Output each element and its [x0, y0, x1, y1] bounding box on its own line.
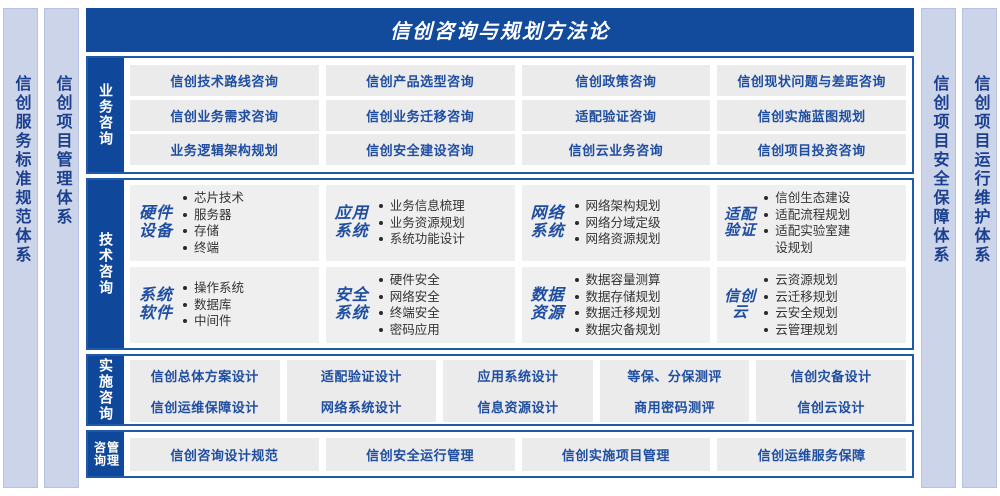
pill-item[interactable]: 信息资源设计 — [443, 391, 593, 422]
band-label-text: 业务咨询 — [99, 83, 113, 147]
card-row: 系统 软件 操作系统 数据库 中间件 安全 系统 硬件安全 网络安全 终端安全 — [130, 267, 906, 343]
band-label-text-right: 管理 — [107, 441, 119, 467]
pillar-label: 信创项目管理体系 — [54, 75, 70, 227]
card-list-item: 数据灾备规划 — [574, 322, 661, 339]
card-security-system[interactable]: 安全 系统 硬件安全 网络安全 终端安全 密码应用 — [326, 267, 515, 343]
card-list-item: 中间件 — [182, 313, 244, 330]
band-label-text: 实施咨询 — [99, 358, 113, 422]
card-list-item: 终端安全 — [378, 305, 440, 322]
pillar-project-operations: 信创项目运行维护体系 — [962, 8, 997, 488]
card-list-item: 终端 — [182, 240, 244, 257]
card-list: 芯片技术 服务器 存储 终端 — [182, 190, 244, 256]
pill-item[interactable]: 信创现状问题与差距咨询 — [717, 65, 906, 96]
pill-item[interactable]: 信创咨询设计规范 — [130, 438, 319, 471]
band-business-consulting: 业务咨询 信创技术路线咨询 信创产品选型咨询 信创政策咨询 信创现状问题与差距咨… — [86, 56, 914, 174]
card-network-system[interactable]: 网络 系统 网络架构规划 网络分域定级 网络资源规划 — [522, 185, 711, 261]
pill-item[interactable]: 网络系统设计 — [287, 391, 437, 422]
pill-row: 信创技术路线咨询 信创产品选型咨询 信创政策咨询 信创现状问题与差距咨询 — [130, 65, 906, 96]
band-label-implementation: 实施咨询 — [88, 356, 124, 424]
pill-item[interactable]: 信创运维保障设计 — [130, 391, 280, 422]
card-list-item: 云安全规划 — [763, 305, 838, 322]
band-technical-consulting: 技术咨询 硬件 设备 芯片技术 服务器 存储 终端 应用 系统 — [86, 178, 914, 350]
card-list-item: 硬件安全 — [378, 272, 440, 289]
card-list-item: 密码应用 — [378, 322, 440, 339]
band-label-text-left: 咨询 — [94, 441, 106, 467]
pill-item[interactable]: 适配验证设计 — [287, 360, 437, 391]
band-body-implementation: 信创总体方案设计 适配验证设计 应用系统设计 等保、分保测评 信创灾备设计 信创… — [124, 356, 912, 424]
card-xinchuang-cloud[interactable]: 信创 云 云资源规划 云迁移规划 云安全规划 云管理规划 — [717, 267, 906, 343]
card-title: 硬件 设备 — [136, 205, 176, 240]
pill-item[interactable]: 信创政策咨询 — [522, 65, 711, 96]
card-list-item: 系统功能设计 — [378, 231, 465, 248]
pill-item[interactable]: 信创云设计 — [756, 391, 906, 422]
card-list-item-continued: 设规划 — [763, 240, 850, 257]
pillar-label: 信创项目安全保障体系 — [931, 75, 947, 265]
pill-row: 信创运维保障设计 网络系统设计 信息资源设计 商用密码测评 信创云设计 — [130, 391, 906, 422]
card-list: 网络架构规划 网络分域定级 网络资源规划 — [574, 198, 661, 248]
center-column: 信创咨询与规划方法论 业务咨询 信创技术路线咨询 信创产品选型咨询 信创政策咨询… — [86, 8, 914, 488]
card-list-item: 数据容量测算 — [574, 272, 661, 289]
pill-item[interactable]: 信创实施项目管理 — [522, 438, 711, 471]
band-body-technical: 硬件 设备 芯片技术 服务器 存储 终端 应用 系统 业务信息梳理 业务资源规划 — [124, 180, 912, 348]
pill-item[interactable]: 信创安全运行管理 — [326, 438, 515, 471]
band-label-technical: 技术咨询 — [88, 180, 124, 348]
card-list-item: 网络架构规划 — [574, 198, 661, 215]
card-hardware-device[interactable]: 硬件 设备 芯片技术 服务器 存储 终端 — [130, 185, 319, 261]
card-list-item: 芯片技术 — [182, 190, 244, 207]
card-list: 数据容量测算 数据存储规划 数据迁移规划 数据灾备规划 — [574, 272, 661, 338]
band-label-management: 咨询 管理 — [88, 432, 124, 476]
card-list-item: 操作系统 — [182, 280, 244, 297]
card-list-item: 存储 — [182, 223, 244, 240]
card-title: 网络 系统 — [528, 205, 568, 240]
card-list-item: 云管理规划 — [763, 322, 838, 339]
pill-item[interactable]: 信创运维服务保障 — [717, 438, 906, 471]
pill-item[interactable]: 等保、分保测评 — [600, 360, 750, 391]
pill-item[interactable]: 业务逻辑架构规划 — [130, 134, 319, 165]
card-list: 云资源规划 云迁移规划 云安全规划 云管理规划 — [763, 272, 838, 338]
card-list-item: 网络资源规划 — [574, 231, 661, 248]
pill-item[interactable]: 信创技术路线咨询 — [130, 65, 319, 96]
card-adaptation-verification[interactable]: 适配 验证 信创生态建设 适配流程规划 适配实验室建 设规划 — [717, 185, 906, 261]
card-list: 信创生态建设 适配流程规划 适配实验室建 设规划 — [763, 190, 850, 256]
band-consulting-management: 咨询 管理 信创咨询设计规范 信创安全运行管理 信创实施项目管理 信创运维服务保… — [86, 430, 914, 478]
band-label-business: 业务咨询 — [88, 58, 124, 172]
pill-row: 信创总体方案设计 适配验证设计 应用系统设计 等保、分保测评 信创灾备设计 — [130, 360, 906, 391]
card-list: 硬件安全 网络安全 终端安全 密码应用 — [378, 272, 440, 338]
card-list: 操作系统 数据库 中间件 — [182, 280, 244, 330]
card-list-item: 云资源规划 — [763, 272, 838, 289]
card-list: 业务信息梳理 业务资源规划 系统功能设计 — [378, 198, 465, 248]
pill-item[interactable]: 信创业务需求咨询 — [130, 100, 319, 131]
band-body-management: 信创咨询设计规范 信创安全运行管理 信创实施项目管理 信创运维服务保障 — [124, 432, 912, 476]
pill-item[interactable]: 适配验证咨询 — [522, 100, 711, 131]
pill-item[interactable]: 信创安全建设咨询 — [326, 134, 515, 165]
pill-row: 信创业务需求咨询 信创业务迁移咨询 适配验证咨询 信创实施蓝图规划 — [130, 100, 906, 131]
pillar-label: 信创服务标准规范体系 — [13, 75, 29, 265]
pillar-service-standard: 信创服务标准规范体系 — [3, 8, 38, 488]
card-list-item: 服务器 — [182, 207, 244, 224]
pill-item[interactable]: 信创灾备设计 — [756, 360, 906, 391]
pill-item[interactable]: 信创业务迁移咨询 — [326, 100, 515, 131]
pillar-project-management: 信创项目管理体系 — [44, 8, 79, 488]
pill-item[interactable]: 信创云业务咨询 — [522, 134, 711, 165]
card-list-item: 网络分域定级 — [574, 215, 661, 232]
diagram-root: 信创服务标准规范体系 信创项目管理体系 信创咨询与规划方法论 业务咨询 信创技术… — [0, 0, 1000, 496]
card-title: 信创 云 — [723, 289, 757, 322]
band-label-text: 技术咨询 — [99, 232, 113, 296]
pill-item[interactable]: 应用系统设计 — [443, 360, 593, 391]
page-title: 信创咨询与规划方法论 — [86, 8, 914, 52]
card-list-item: 信创生态建设 — [763, 190, 850, 207]
card-list-item: 数据库 — [182, 297, 244, 314]
card-list-item: 数据存储规划 — [574, 289, 661, 306]
pill-item[interactable]: 信创实施蓝图规划 — [717, 100, 906, 131]
card-title: 适配 验证 — [723, 207, 757, 240]
pill-item[interactable]: 商用密码测评 — [600, 391, 750, 422]
card-data-resource[interactable]: 数据 资源 数据容量测算 数据存储规划 数据迁移规划 数据灾备规划 — [522, 267, 711, 343]
card-list-item: 适配实验室建 — [763, 223, 850, 240]
card-application-system[interactable]: 应用 系统 业务信息梳理 业务资源规划 系统功能设计 — [326, 185, 515, 261]
band-body-business: 信创技术路线咨询 信创产品选型咨询 信创政策咨询 信创现状问题与差距咨询 信创业… — [124, 58, 912, 172]
card-list-item: 网络安全 — [378, 289, 440, 306]
card-title: 系统 软件 — [136, 287, 176, 322]
pill-item[interactable]: 信创项目投资咨询 — [717, 134, 906, 165]
card-list-item: 业务信息梳理 — [378, 198, 465, 215]
card-title: 应用 系统 — [332, 205, 372, 240]
card-list-item: 业务资源规划 — [378, 215, 465, 232]
pill-item[interactable]: 信创产品选型咨询 — [326, 65, 515, 96]
pill-row: 业务逻辑架构规划 信创安全建设咨询 信创云业务咨询 信创项目投资咨询 — [130, 134, 906, 165]
pill-row: 信创咨询设计规范 信创安全运行管理 信创实施项目管理 信创运维服务保障 — [130, 438, 906, 471]
card-row: 硬件 设备 芯片技术 服务器 存储 终端 应用 系统 业务信息梳理 业务资源规划 — [130, 185, 906, 261]
pill-item[interactable]: 信创总体方案设计 — [130, 360, 280, 391]
card-list-item: 适配流程规划 — [763, 207, 850, 224]
card-system-software[interactable]: 系统 软件 操作系统 数据库 中间件 — [130, 267, 319, 343]
pillar-project-security: 信创项目安全保障体系 — [921, 8, 956, 488]
right-pillar-group: 信创项目安全保障体系 信创项目运行维护体系 — [918, 0, 1000, 496]
left-pillar-group: 信创服务标准规范体系 信创项目管理体系 — [0, 0, 82, 496]
band-implementation-consulting: 实施咨询 信创总体方案设计 适配验证设计 应用系统设计 等保、分保测评 信创灾备… — [86, 354, 914, 426]
card-title: 数据 资源 — [528, 287, 568, 322]
pillar-label: 信创项目运行维护体系 — [972, 75, 988, 265]
card-list-item: 数据迁移规划 — [574, 305, 661, 322]
card-title: 安全 系统 — [332, 287, 372, 322]
card-list-item: 云迁移规划 — [763, 289, 838, 306]
